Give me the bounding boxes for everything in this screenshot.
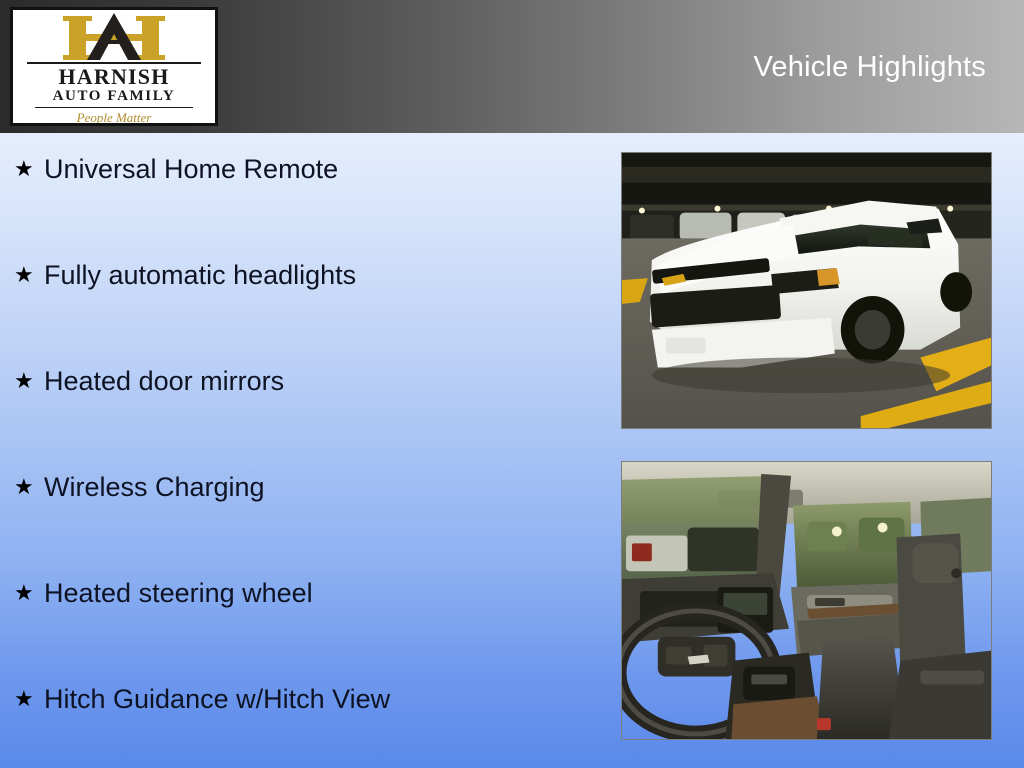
dealer-logo[interactable]: HARNISH AUTO FAMILY People Matter xyxy=(10,7,218,126)
logo-subtitle: AUTO FAMILY xyxy=(13,88,215,105)
star-bullet-icon: ★ xyxy=(14,468,44,506)
feature-label: Heated door mirrors xyxy=(44,362,600,400)
interior-photo-art xyxy=(622,462,991,739)
list-item: ★ Universal Home Remote xyxy=(0,150,600,256)
star-bullet-icon: ★ xyxy=(14,680,44,718)
feature-label: Heated steering wheel xyxy=(44,574,600,612)
slide: Vehicle Highlights HARNISH AUTO FAMILY xyxy=(0,0,1024,768)
list-item: ★ Heated door mirrors xyxy=(0,362,600,468)
vehicle-exterior-photo[interactable] xyxy=(621,152,992,429)
harnish-monogram-icon xyxy=(55,13,173,63)
star-bullet-icon: ★ xyxy=(14,256,44,294)
logo-name: HARNISH xyxy=(13,65,215,88)
exterior-photo-art xyxy=(622,153,991,428)
star-bullet-icon: ★ xyxy=(14,362,44,400)
list-item: ★ Wireless Charging xyxy=(0,468,600,574)
feature-label: Wireless Charging xyxy=(44,468,600,506)
star-bullet-icon: ★ xyxy=(14,574,44,612)
feature-label: Fully automatic headlights xyxy=(44,256,600,294)
list-item: ★ Hitch Guidance w/Hitch View xyxy=(0,680,600,768)
page-title: Vehicle Highlights xyxy=(753,50,986,84)
logo-inner: HARNISH AUTO FAMILY People Matter xyxy=(13,10,215,123)
list-item: ★ Heated steering wheel xyxy=(0,574,600,680)
star-bullet-icon: ★ xyxy=(14,150,44,188)
logo-wordmark: HARNISH AUTO FAMILY People Matter xyxy=(13,62,215,126)
feature-label: Universal Home Remote xyxy=(44,150,600,188)
vehicle-interior-photo[interactable] xyxy=(621,461,992,740)
logo-tagline: People Matter xyxy=(13,108,215,126)
feature-label: Hitch Guidance w/Hitch View xyxy=(44,680,600,718)
feature-list: ★ Universal Home Remote ★ Fully automati… xyxy=(0,150,600,768)
list-item: ★ Fully automatic headlights xyxy=(0,256,600,362)
